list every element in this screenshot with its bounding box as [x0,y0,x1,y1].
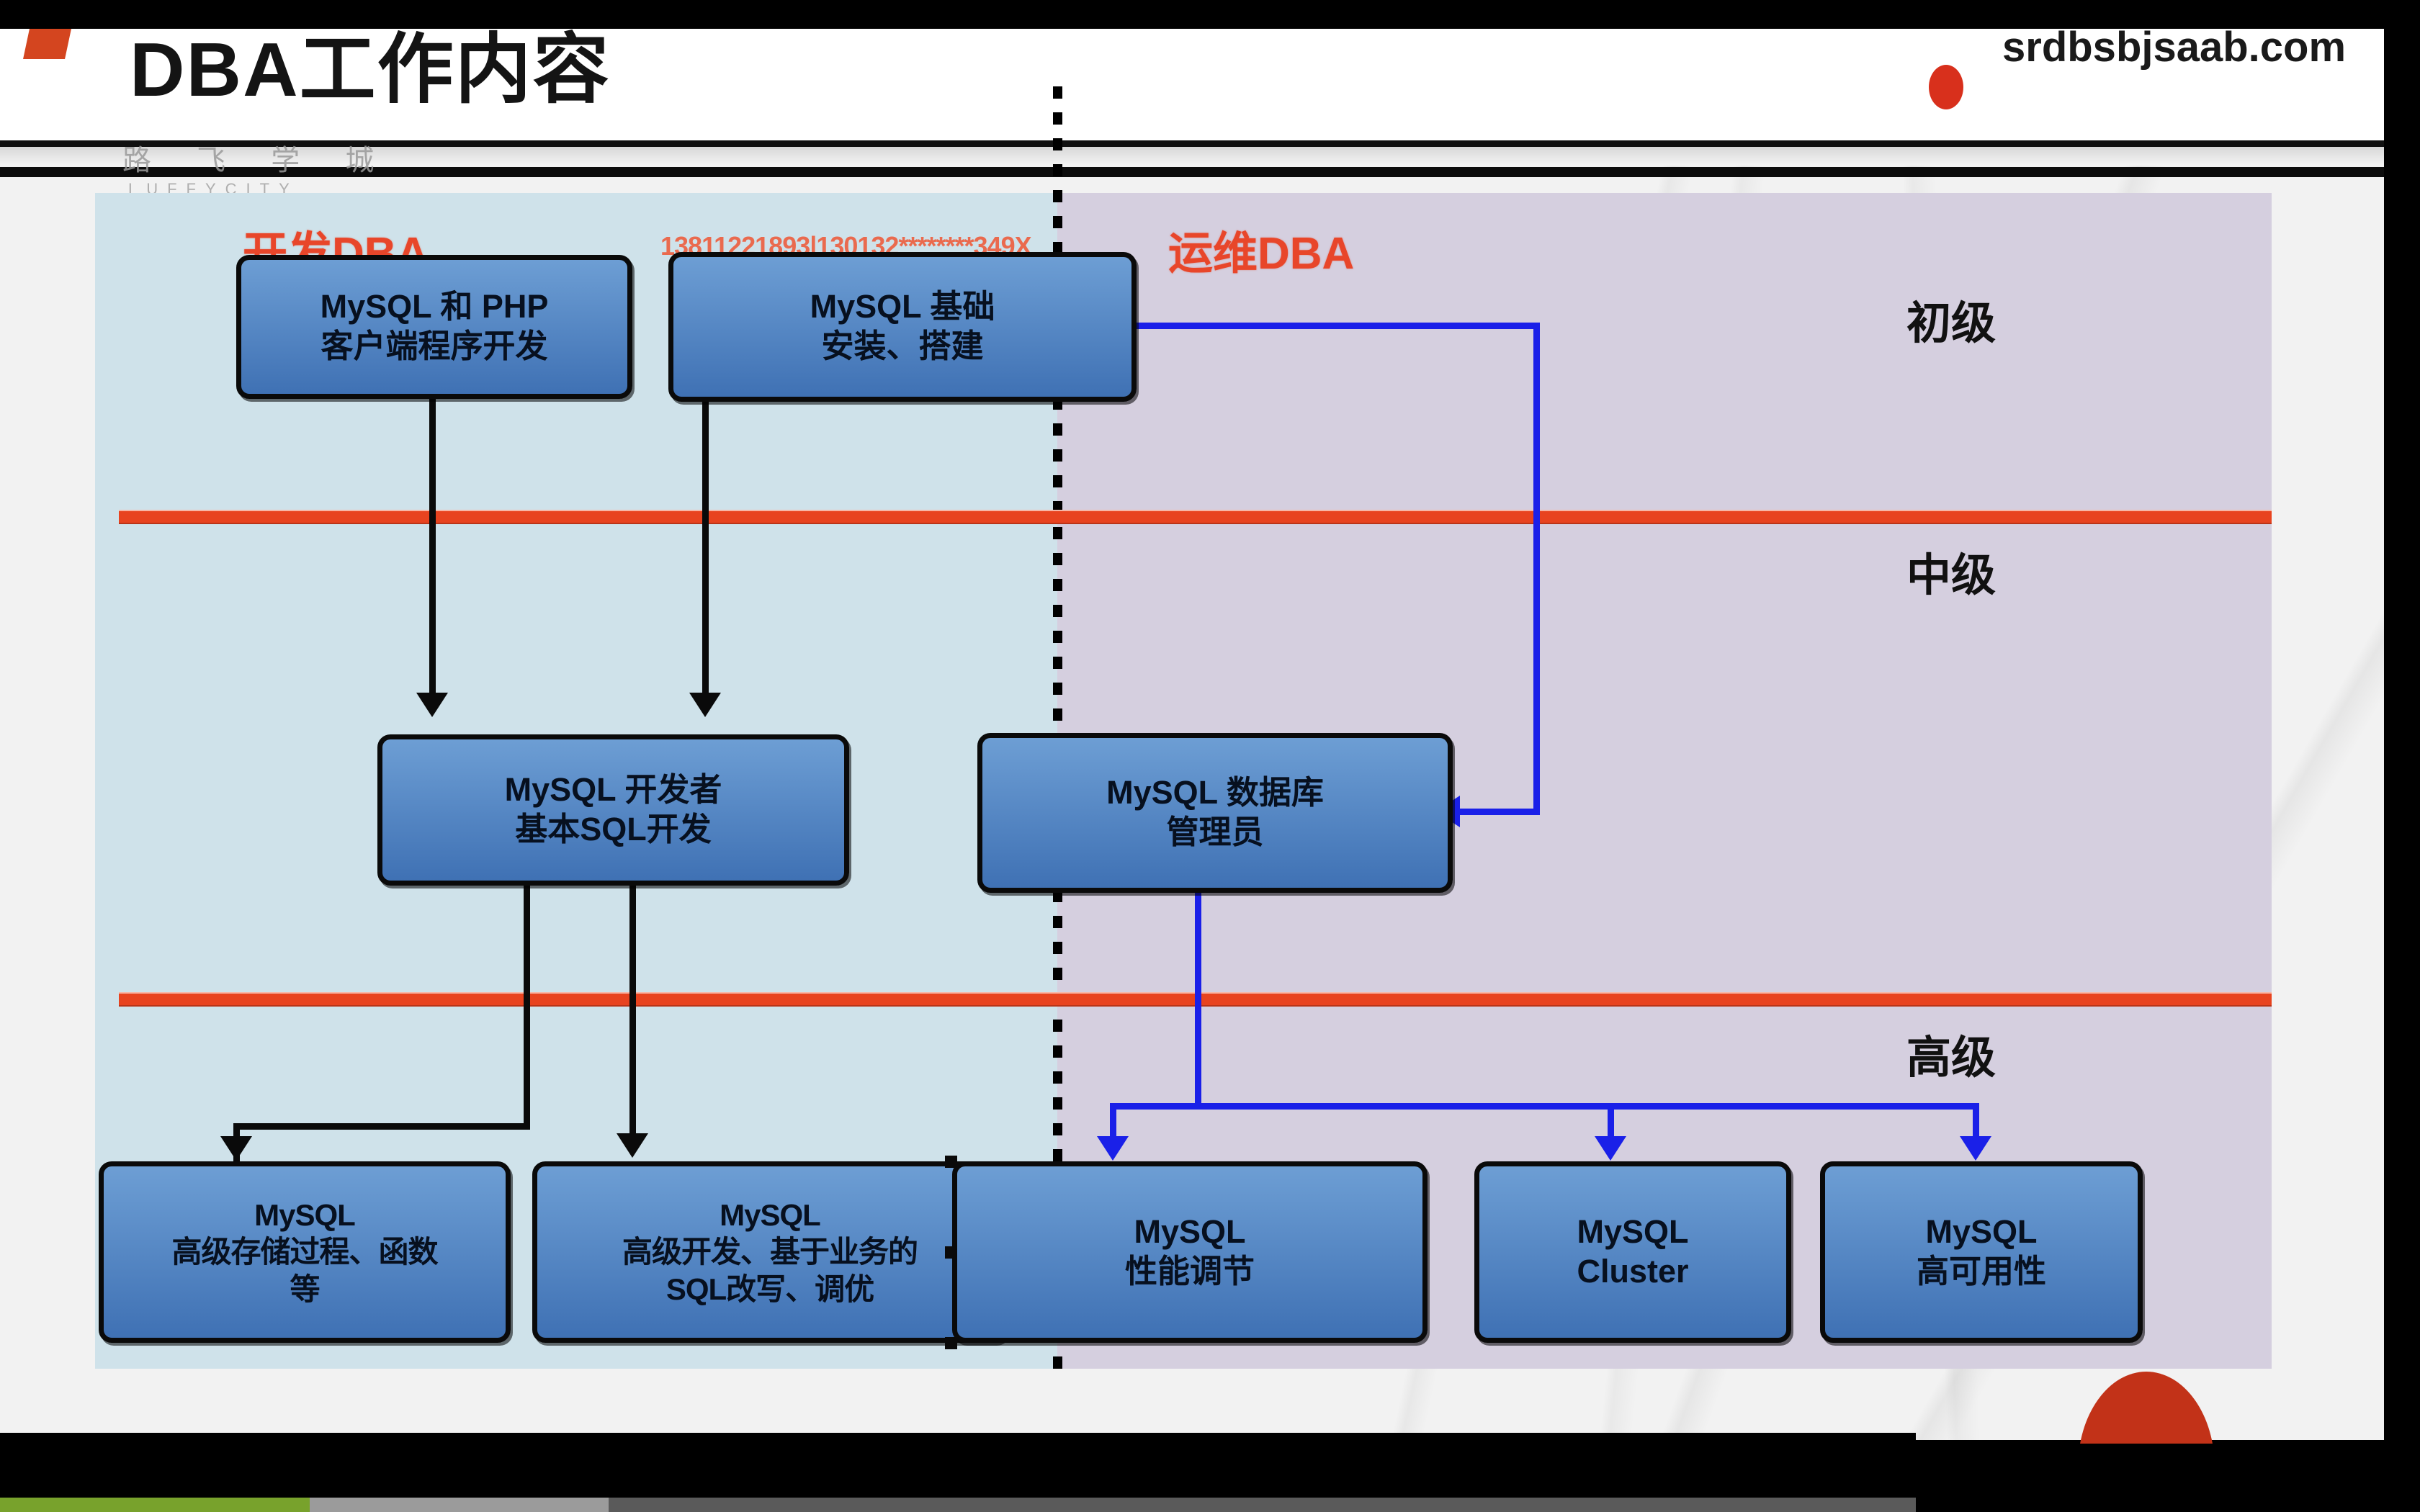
progress-played[interactable] [0,1498,310,1512]
level-label-intermediate: 中级 [1906,539,1996,603]
edge-basic-to-developer-arrow [689,693,721,717]
node-line: MySQL [1925,1212,2037,1252]
node-mysql-cluster[interactable]: MySQL Cluster [1474,1161,1791,1343]
column-heading-ops: 运维DBA [1168,217,1354,282]
node-line: Cluster [1577,1252,1688,1292]
selection-handle-top-left[interactable] [945,1156,957,1168]
node-line: 高级开发、基于业务的 [622,1233,918,1270]
node-mysql-advanced-dev[interactable]: MySQL 高级开发、基于业务的 SQL改写、调优 [532,1161,1008,1343]
edge-developer-to-procedures-h [233,1123,530,1130]
node-line: 基本SQL开发 [515,810,712,850]
node-line: 性能调节 [1125,1252,1255,1292]
edge-basic-to-dba-h-top [1137,323,1540,329]
node-line: 管理员 [1166,813,1263,852]
top-right-text: srdbsbjsaab.com [2002,29,2346,71]
node-line: MySQL [720,1197,820,1233]
edge-dba-to-perf-arrow [1097,1136,1129,1161]
node-line: MySQL 基础 [810,287,995,327]
node-line: MySQL [254,1197,355,1233]
letterbox-right [2384,0,2420,1512]
level-label-senior: 高级 [1906,1021,1996,1086]
edge-basic-to-dba-h-bottom [1460,809,1540,815]
video-progress-bar[interactable] [0,1498,2420,1512]
node-mysql-developer[interactable]: MySQL 开发者 基本SQL开发 [377,734,849,886]
node-line: 高级存储过程、函数 [171,1233,437,1270]
edge-dba-to-ha-arrow [1960,1136,1991,1161]
bullet-square-icon [23,29,73,59]
edge-basic-to-dba-vertical [1533,323,1540,814]
node-line: MySQL 和 PHP [321,287,549,327]
edge-dba-fanout-stem [1195,893,1201,1109]
edge-dba-to-ha-vertical [1973,1103,1979,1140]
letterbox-top [0,0,2420,29]
brand-dot-icon [1929,65,1963,109]
node-line: SQL改写、调优 [666,1271,874,1308]
node-line: MySQL 开发者 [505,770,722,810]
edge-developer-to-procedures-arrow [220,1136,252,1161]
level-separator-junior-intermediate [119,510,2272,524]
edge-basic-to-developer-vertical [702,402,709,694]
edge-php-to-developer-arrow [416,693,448,717]
edge-developer-to-advdev-vertical [629,886,636,1139]
edge-developer-to-advdev-arrow [617,1133,648,1158]
edge-php-to-developer-vertical [429,399,436,694]
diagram-canvas: 开发DBA 运维DBA 13811221893|130132********34… [95,193,2272,1369]
edge-dba-to-perf-vertical [1110,1103,1116,1140]
node-mysql-high-availability[interactable]: MySQL 高可用性 [1820,1161,2143,1343]
node-mysql-basic[interactable]: MySQL 基础 安装、搭建 [668,252,1137,402]
edge-dba-to-cluster-vertical [1608,1103,1614,1140]
logo-chinese: 路 飞 学 城 [122,137,393,179]
node-line: 等 [290,1271,319,1308]
node-line: 客户端程序开发 [321,327,547,366]
node-line: MySQL [1134,1212,1245,1252]
edge-dba-fanout-rail [1110,1103,1979,1110]
progress-buffered[interactable] [310,1498,609,1512]
node-mysql-php[interactable]: MySQL 和 PHP 客户端程序开发 [236,255,632,399]
node-line: 安装、搭建 [821,327,983,366]
edge-developer-to-procedures-v1 [524,886,530,1129]
selection-handle-middle-left[interactable] [945,1246,957,1259]
edge-dba-to-cluster-arrow [1595,1136,1626,1161]
selection-handle-bottom-left[interactable] [945,1337,957,1349]
level-label-junior: 初级 [1906,287,1996,351]
node-line: MySQL [1577,1212,1688,1252]
node-line: MySQL 数据库 [1106,773,1324,813]
node-line: 高可用性 [1917,1252,2046,1292]
node-mysql-dba[interactable]: MySQL 数据库 管理员 [977,733,1453,893]
progress-remaining[interactable] [609,1498,1916,1512]
page-title: DBA工作内容 [130,29,611,118]
video-frame: DBA工作内容 srdbsbjsaab.com 路 飞 学 城 LUFFYCIT… [0,0,2420,1512]
node-mysql-performance[interactable]: MySQL 性能调节 [952,1161,1428,1343]
node-mysql-procedures[interactable]: MySQL 高级存储过程、函数 等 [99,1161,511,1343]
